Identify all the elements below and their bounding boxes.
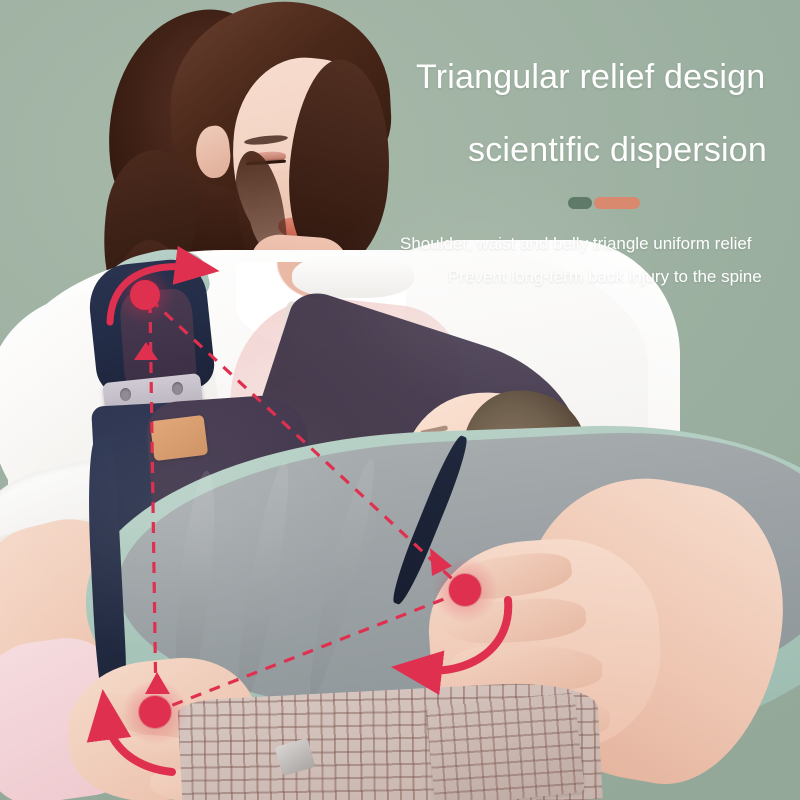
triangle-edge-belly-to-shoulder [150,302,156,706]
arrowhead-shoulder-up [134,342,158,360]
subtext-line-2: Prevent long-term back injury to the spi… [448,267,762,287]
triangle-dashed-path [150,299,462,710]
product-banner: Triangular relief design scientific disp… [0,0,800,800]
side-waist-point-marker[interactable] [449,574,481,606]
headline-line-2: scientific dispersion [468,131,767,170]
divider-dash-salmon [594,197,640,209]
triangle-edge-shoulder-to-side [150,299,462,588]
subtext-line-1: Shoulder, waist and belly triangle unifo… [400,234,752,254]
belly-point-marker[interactable] [139,696,171,728]
shoulder-point-marker[interactable] [130,280,160,310]
triangle-edge-side-to-belly [160,592,462,710]
triangle-annotation-overlay [0,0,800,800]
headline-line-1: Triangular relief design [416,58,765,97]
divider-dash-green [568,197,592,209]
